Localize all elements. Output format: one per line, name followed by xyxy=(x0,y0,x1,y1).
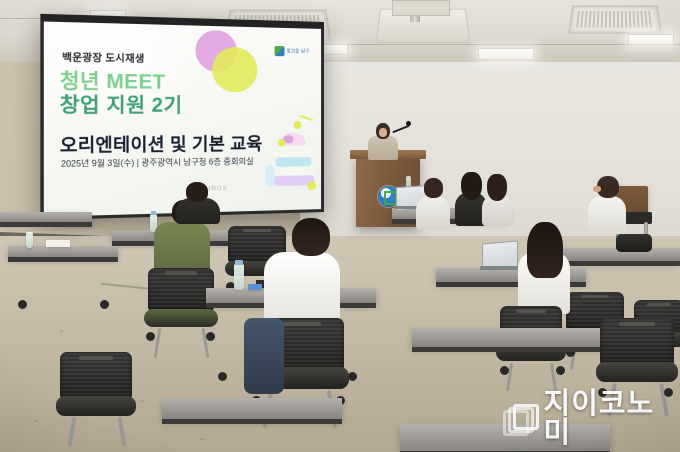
org-logo-text: 빛고을 남구 xyxy=(287,48,310,54)
table-row xyxy=(8,246,118,258)
slide-org-logo: 빛고을 남구 xyxy=(275,46,310,57)
table-row xyxy=(412,328,602,348)
speaker-face xyxy=(379,128,387,137)
slide-title-line2: 창업 지원 2기 xyxy=(60,89,183,118)
watermark: 지이코노미 xyxy=(503,390,680,448)
paper-document xyxy=(46,240,70,247)
projector-housing xyxy=(392,0,450,16)
chair xyxy=(600,318,674,394)
slide-surface: 빛고을 남구 백운광장 도시재생 청년 MEET 창업 지원 2기 오리엔테이션… xyxy=(44,22,321,217)
chair xyxy=(60,352,132,428)
chair-caster xyxy=(206,332,215,341)
floor-speck xyxy=(200,438,204,440)
geconomy-logo-icon xyxy=(503,403,537,435)
person-legs xyxy=(244,318,284,394)
ceiling-seam xyxy=(300,44,680,45)
led-panel-light xyxy=(478,48,534,60)
floor-speck xyxy=(140,400,144,402)
table-row xyxy=(0,212,92,223)
org-logo-mark-icon xyxy=(275,46,285,56)
led-panel-light xyxy=(628,34,674,45)
water-bottle xyxy=(26,232,33,248)
water-bottle xyxy=(234,264,244,290)
table-row xyxy=(162,398,342,420)
chair-caster xyxy=(500,366,509,375)
chair-caster xyxy=(146,332,155,341)
seminar-room-photo: 빛고을 남구 백운광장 도시재생 청년 MEET 창업 지원 2기 오리엔테이션… xyxy=(0,0,680,452)
table-caster xyxy=(18,300,27,309)
speaker-body xyxy=(368,136,398,160)
watermark-text: 지이코노미 xyxy=(544,390,680,448)
floor-speck xyxy=(60,330,63,332)
table-caster xyxy=(348,372,357,381)
table-caster xyxy=(218,372,227,381)
small-box xyxy=(248,284,262,290)
ac-vent-icon xyxy=(568,5,662,34)
slide-headline: 오리엔테이션 및 기본 교육 xyxy=(60,129,263,157)
floor-speck xyxy=(35,420,38,422)
projection-screen: 빛고을 남구 백운광장 도시재생 청년 MEET 창업 지원 2기 오리엔테이션… xyxy=(40,14,324,220)
microphone-icon xyxy=(406,121,411,126)
bottle-cap xyxy=(151,211,156,215)
chair-caster xyxy=(556,366,565,375)
laptop-base xyxy=(480,266,518,270)
bag xyxy=(616,234,652,252)
table-caster xyxy=(100,300,109,309)
slide-date-venue: 2025년 9월 3일(수) | 광주광역시 남구청 6층 중회의실 xyxy=(61,156,254,170)
decor-book-stack-icon xyxy=(265,133,321,209)
chair xyxy=(148,268,214,338)
bottle-cap xyxy=(235,260,243,265)
decor-blob-lime xyxy=(212,47,257,93)
slide-eyebrow: 백운광장 도시재생 xyxy=(62,49,144,65)
